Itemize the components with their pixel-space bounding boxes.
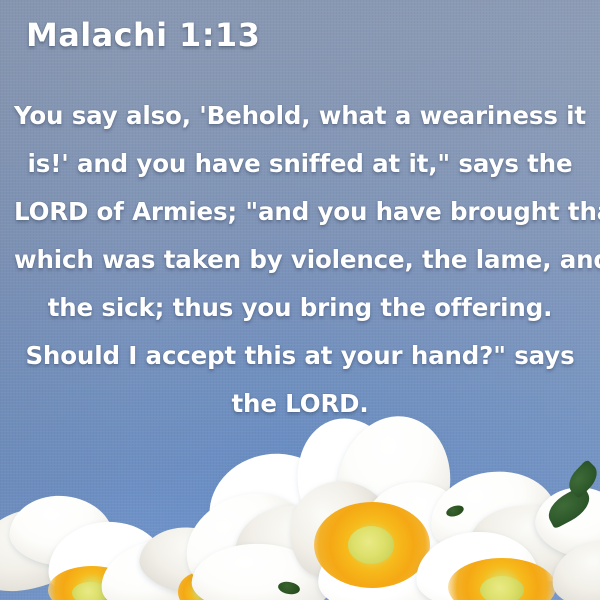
- verse-line: the sick; thus you bring the offering.: [14, 284, 586, 332]
- verse-reference-title: Malachi 1:13: [26, 16, 260, 54]
- verse-line: is!' and you have sniffed at it," says t…: [14, 140, 586, 188]
- verse-line: Should I accept this at your hand?" says: [14, 332, 586, 380]
- verse-line: which was taken by violence, the lame, a…: [14, 236, 586, 284]
- scripture-image: Malachi 1:13 You say also, 'Behold, what…: [0, 0, 600, 600]
- verse-line: You say also, 'Behold, what a weariness …: [14, 92, 586, 140]
- verse-line: LORD of Armies; "and you have brought th…: [14, 188, 586, 236]
- verse-line: the LORD.: [14, 380, 586, 428]
- verse-text-block: You say also, 'Behold, what a weariness …: [14, 92, 586, 428]
